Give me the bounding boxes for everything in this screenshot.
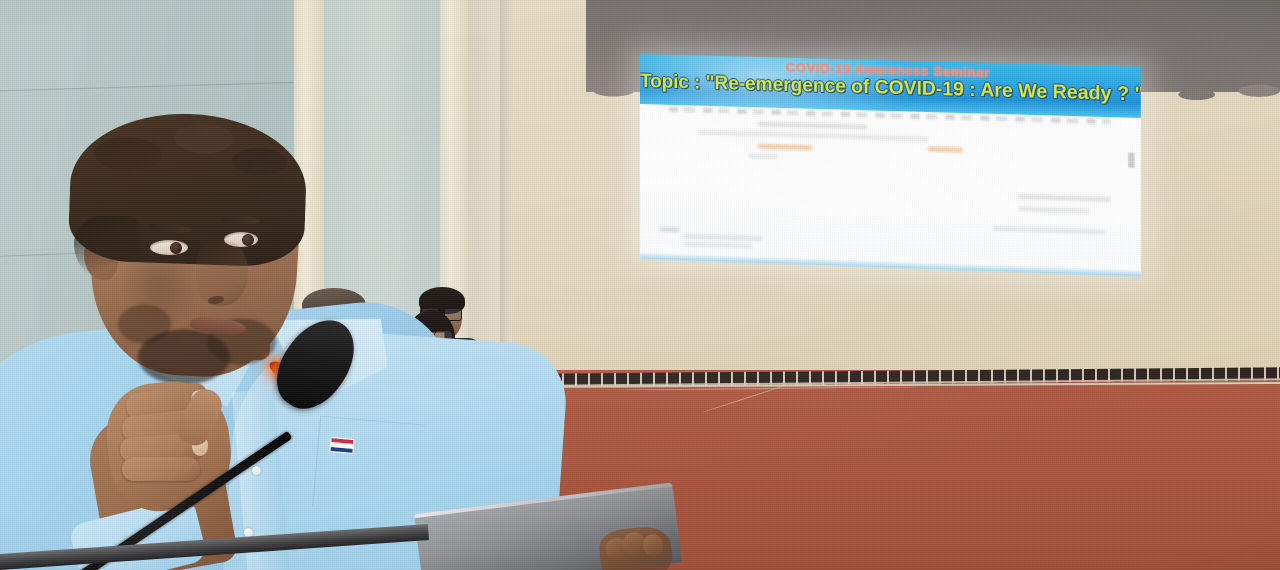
eye — [150, 240, 188, 255]
slide-scroll-marker — [1128, 152, 1134, 168]
logo-stripe-blue — [330, 447, 352, 453]
tommy-hilfiger-logo — [329, 437, 354, 454]
slide-faint-text — [660, 227, 680, 233]
projection-screen: COVID-19 Awareness Seminar Topic : "Re-e… — [640, 54, 1141, 277]
knuckle — [642, 533, 664, 557]
wall-seam — [0, 82, 300, 91]
iris — [170, 242, 182, 254]
shirt-button — [252, 466, 261, 475]
slide-faint-highlight — [927, 147, 962, 153]
speaker-foreground — [0, 120, 560, 570]
seminar-photo-scene: COVID-19 Awareness Seminar Topic : "Re-e… — [0, 0, 1280, 570]
shirt-pocket — [312, 416, 425, 516]
iris — [242, 234, 254, 246]
finger — [122, 457, 200, 481]
slide-faint-text — [748, 153, 778, 159]
